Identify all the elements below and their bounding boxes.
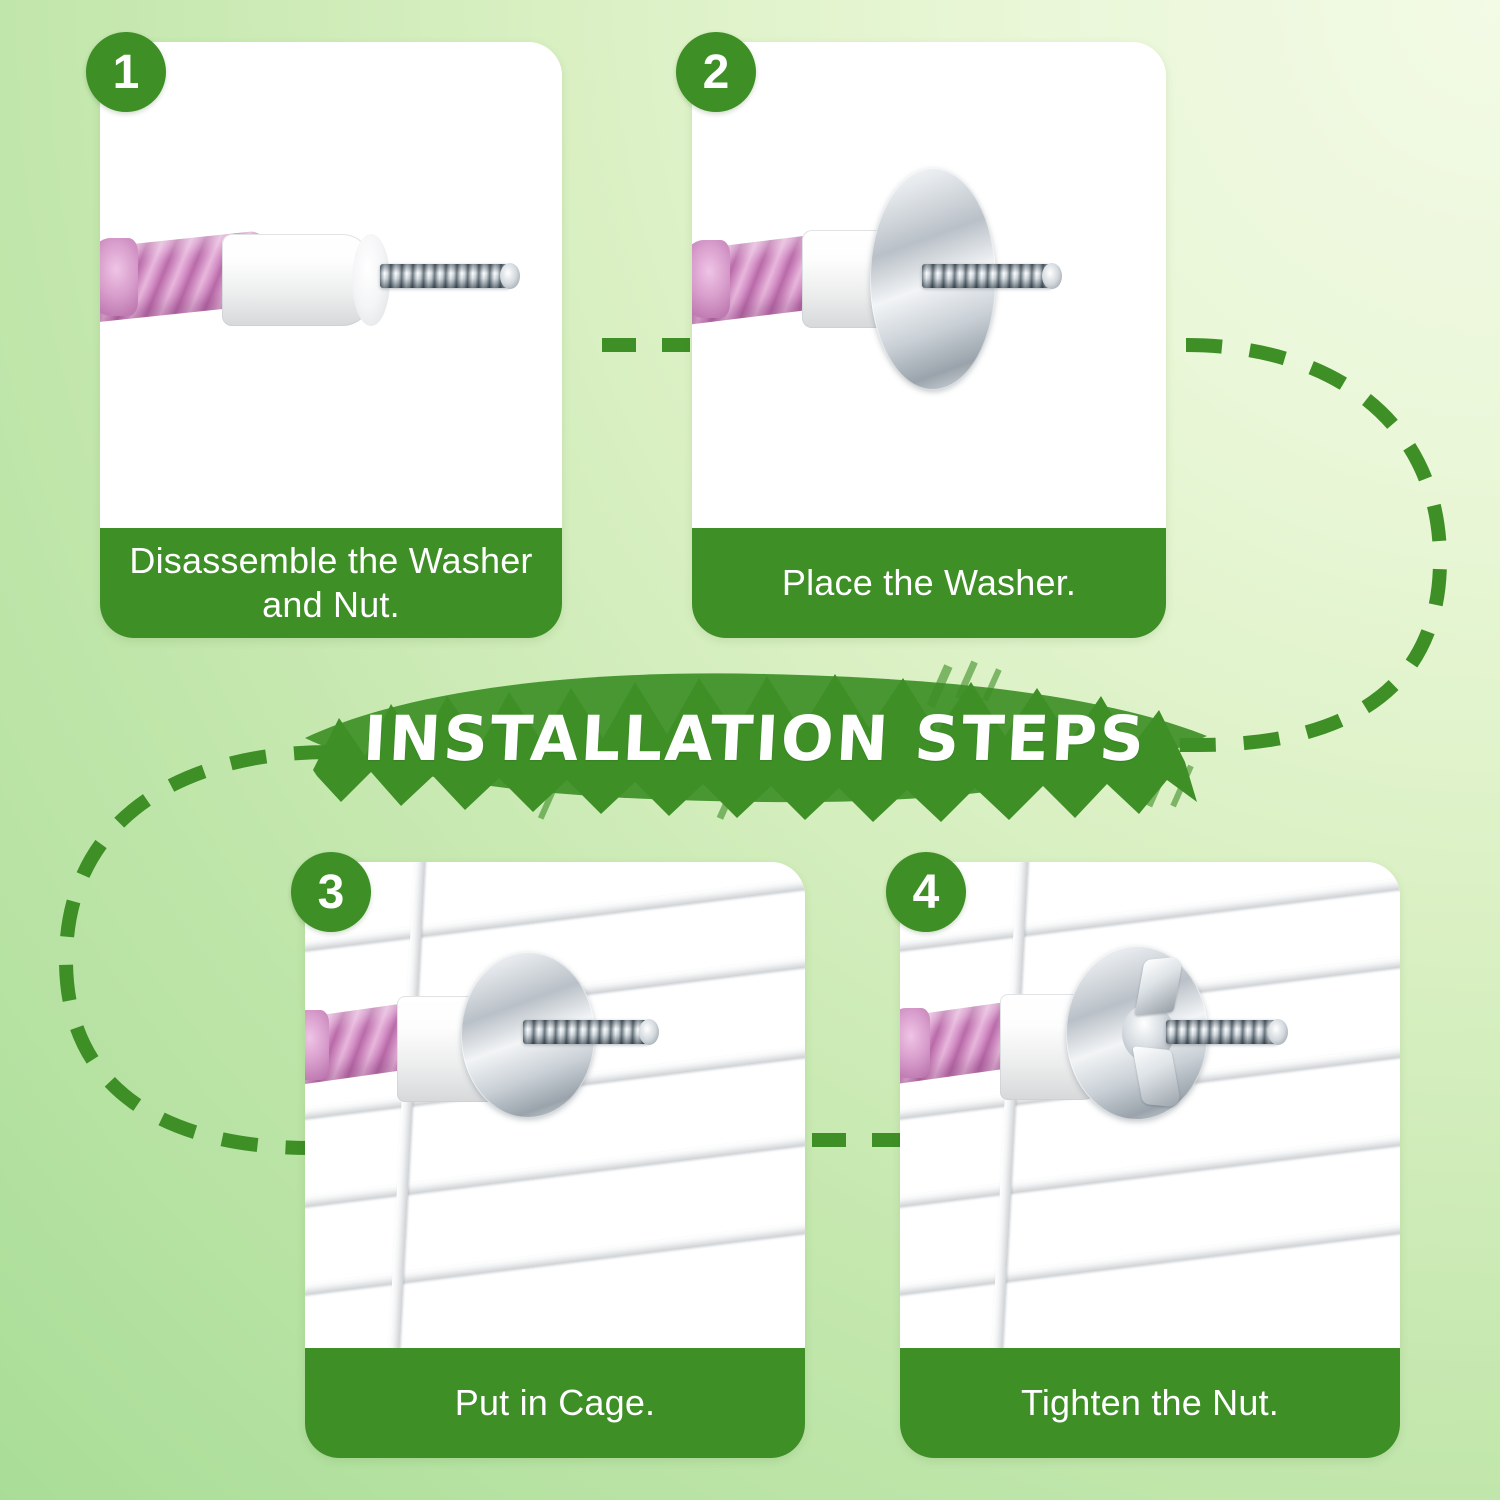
- step-2-caption-text: Place the Washer.: [782, 561, 1076, 605]
- step-3-caption: Put in Cage.: [305, 1348, 805, 1458]
- step-1-caption: Disassemble the Washer and Nut.: [100, 528, 562, 638]
- step-4-number: 4: [913, 865, 940, 920]
- step-2-illustration: [692, 42, 1166, 528]
- step-badge-1: 1: [86, 32, 166, 112]
- cage-wire-h-4: [305, 1127, 805, 1211]
- banner-title: INSTALLATION STEPS: [290, 652, 1219, 824]
- rope-end-1: [100, 238, 138, 316]
- bolt-tip-3: [639, 1019, 659, 1045]
- step-1-number: 1: [113, 45, 140, 100]
- cage-wire-h-5: [305, 1215, 805, 1299]
- bolt-tip-1: [500, 263, 520, 289]
- rope-end-3: [305, 1010, 329, 1080]
- step-1-illustration: [100, 42, 562, 528]
- rope-end-4: [900, 1008, 930, 1078]
- threaded-bolt-1: [380, 264, 510, 288]
- step-card-1[interactable]: Disassemble the Washer and Nut.: [100, 42, 562, 638]
- step-badge-2: 2: [676, 32, 756, 112]
- step-3-number: 3: [318, 865, 345, 920]
- rope-end-2: [692, 240, 730, 318]
- cage-wire-h-5: [900, 1215, 1400, 1299]
- cage-wire-h-1: [305, 871, 805, 955]
- threaded-bolt-4: [1166, 1020, 1278, 1044]
- step-4-caption-text: Tighten the Nut.: [1021, 1381, 1279, 1425]
- bolt-tip-2: [1042, 263, 1062, 289]
- bolt-tip-4: [1268, 1019, 1288, 1045]
- threaded-bolt-2: [922, 264, 1052, 288]
- threaded-bolt-3: [523, 1020, 649, 1044]
- step-card-4[interactable]: Tighten the Nut.: [900, 862, 1400, 1458]
- banner: INSTALLATION STEPS: [295, 652, 1215, 824]
- step-card-3[interactable]: Put in Cage.: [305, 862, 805, 1458]
- step-2-number: 2: [703, 45, 730, 100]
- step-3-illustration: [305, 862, 805, 1348]
- step-card-2[interactable]: Place the Washer.: [692, 42, 1166, 638]
- step-1-caption-text: Disassemble the Washer and Nut.: [114, 539, 548, 627]
- step-4-illustration: [900, 862, 1400, 1348]
- step-4-caption: Tighten the Nut.: [900, 1348, 1400, 1458]
- cage-wire-h-1: [900, 871, 1400, 955]
- cage-wire-h-4: [900, 1127, 1400, 1211]
- step-badge-4: 4: [886, 852, 966, 932]
- step-badge-3: 3: [291, 852, 371, 932]
- infographic-root: Disassemble the Washer and Nut. 1 Place …: [0, 0, 1500, 1500]
- step-3-caption-text: Put in Cage.: [455, 1381, 656, 1425]
- step-2-caption: Place the Washer.: [692, 528, 1166, 638]
- plastic-cap-1: [222, 234, 372, 326]
